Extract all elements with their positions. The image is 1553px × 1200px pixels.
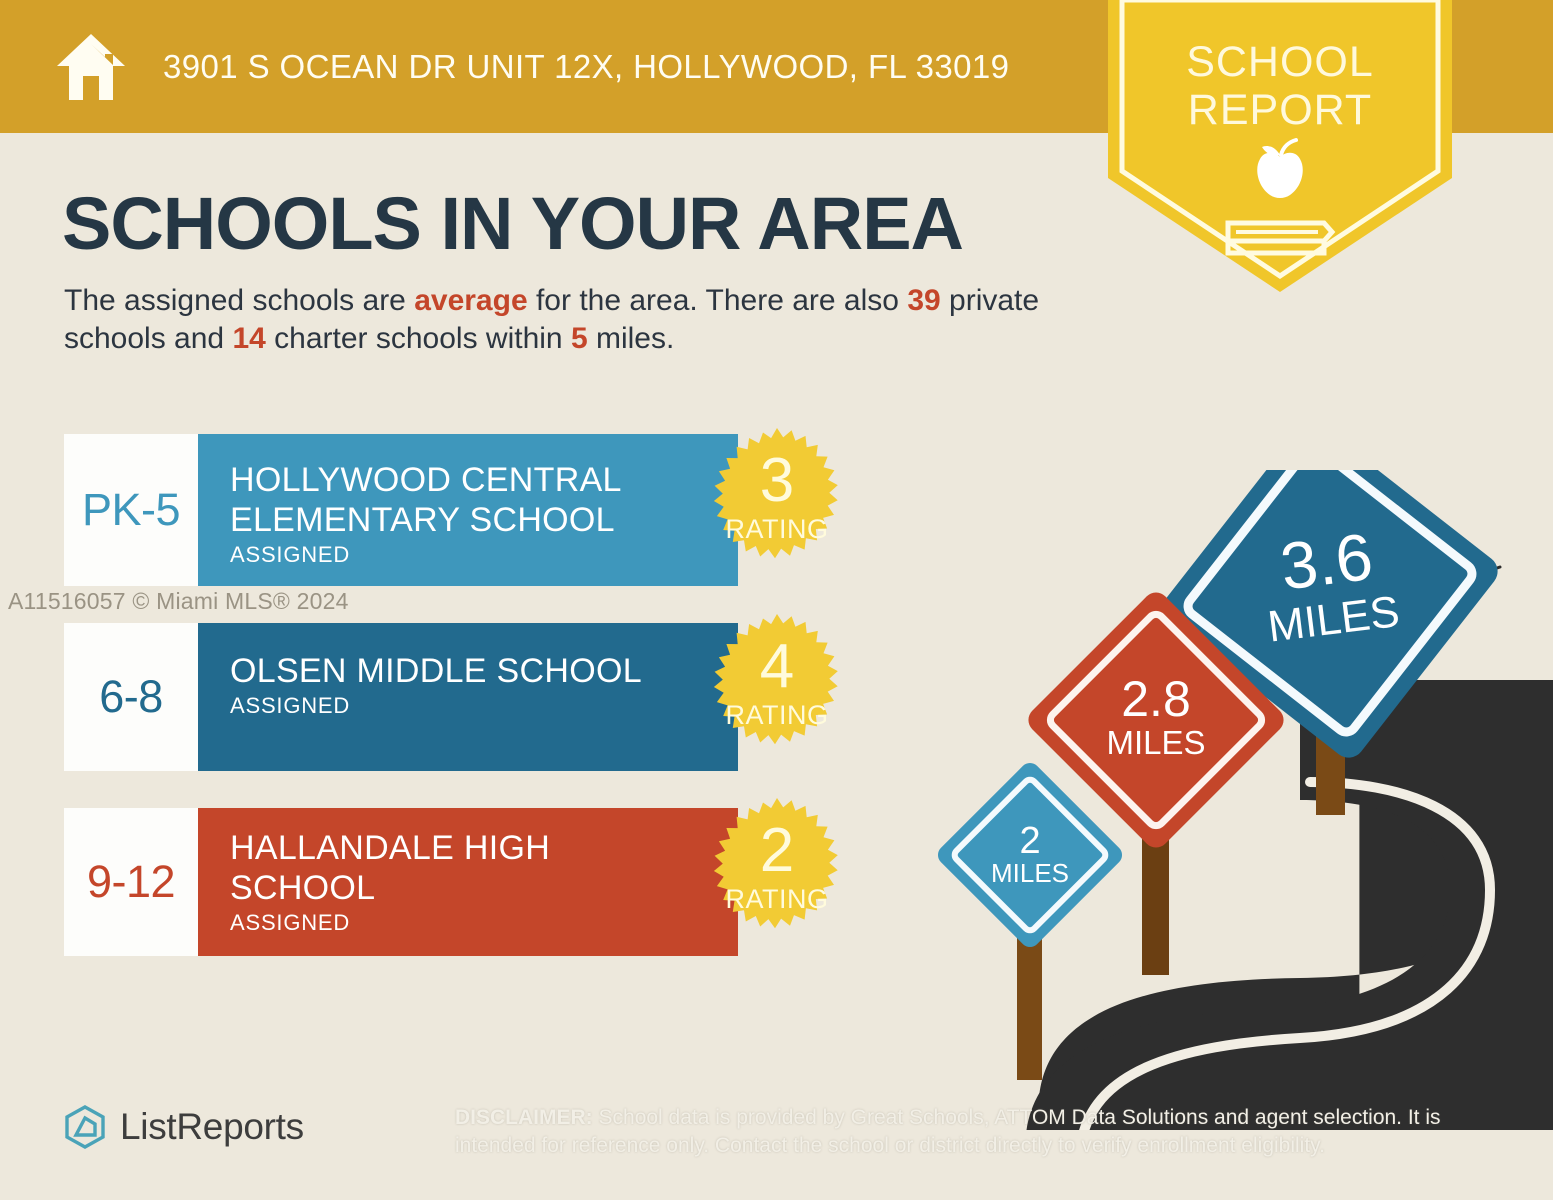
school-rating-badge: 4 RATING	[694, 614, 860, 780]
school-report-infographic: 3901 S OCEAN DR UNIT 12X, HOLLYWOOD, FL …	[0, 0, 1553, 1200]
grade-box: PK-5	[64, 434, 198, 586]
grade-range-label: PK-5	[82, 484, 180, 536]
grade-box: 9-12	[64, 808, 198, 956]
rating-label: RATING	[694, 514, 860, 545]
subtitle-highlight-private-count: 39	[907, 284, 940, 317]
school-name: HALLANDALE HIGH SCHOOL	[230, 828, 610, 908]
rating-value: 4	[694, 636, 860, 698]
subtitle-part-5: miles.	[588, 322, 675, 355]
subtitle-highlight-average: average	[414, 284, 527, 317]
school-rating-badge: 2 RATING	[694, 798, 860, 964]
sign-distance-value: 2.8	[1121, 671, 1191, 727]
school-rating-badge: 3 RATING	[694, 428, 860, 594]
school-name: HOLLYWOOD CENTRAL ELEMENTARY SCHOOL	[230, 460, 680, 540]
listreports-logo-text: ListReports	[120, 1106, 304, 1148]
home-icon	[55, 32, 127, 102]
school-bar[interactable]: HOLLYWOOD CENTRAL ELEMENTARY SCHOOL ASSI…	[198, 434, 738, 586]
school-status: ASSIGNED	[230, 692, 738, 720]
subtitle-highlight-radius: 5	[571, 322, 588, 355]
school-name: OLSEN MIDDLE SCHOOL	[230, 651, 700, 691]
grade-range-label: 6-8	[99, 671, 163, 723]
subtitle-part-2: for the area. There are also	[528, 284, 908, 317]
school-status: ASSIGNED	[230, 541, 738, 569]
listreports-house-icon	[62, 1104, 108, 1150]
subtitle-part-1: The assigned schools are	[64, 284, 414, 317]
grade-box: 6-8	[64, 623, 198, 771]
road-scene: 3.6 MILES 2.8 MILES 2 MILES	[930, 470, 1553, 1130]
subtitle-part-4: charter schools within	[266, 322, 571, 355]
page-subtitle: The assigned schools are average for the…	[64, 282, 1109, 358]
rating-value: 2	[694, 820, 860, 882]
page-title: SCHOOLS IN YOUR AREA	[62, 184, 963, 264]
school-report-badge: SCHOOL REPORT	[1108, 0, 1452, 292]
mls-watermark: A11516057 © Miami MLS® 2024	[8, 588, 349, 615]
property-address: 3901 S OCEAN DR UNIT 12X, HOLLYWOOD, FL …	[163, 48, 1009, 86]
sign-unit-label: MILES	[991, 858, 1069, 888]
rating-value: 3	[694, 450, 860, 512]
rating-label: RATING	[694, 700, 860, 731]
school-status: ASSIGNED	[230, 909, 738, 937]
disclaimer-text: DISCLAIMER: School data is provided by G…	[455, 1104, 1460, 1160]
subtitle-highlight-charter-count: 14	[232, 322, 265, 355]
grade-range-label: 9-12	[87, 856, 175, 908]
school-bar[interactable]: OLSEN MIDDLE SCHOOL ASSIGNED	[198, 623, 738, 771]
badge-shield-shape	[1108, 0, 1452, 292]
rating-label: RATING	[694, 884, 860, 915]
listreports-logo[interactable]: ListReports	[62, 1104, 304, 1150]
sign-unit-label: MILES	[1106, 724, 1205, 761]
disclaimer-body: School data is provided by Great Schools…	[455, 1106, 1441, 1157]
header-content: 3901 S OCEAN DR UNIT 12X, HOLLYWOOD, FL …	[55, 0, 1009, 133]
school-bar[interactable]: HALLANDALE HIGH SCHOOL ASSIGNED	[198, 808, 738, 956]
sign-distance-value: 2	[1019, 820, 1040, 862]
distance-signs-illustration: 3.6 MILES 2.8 MILES 2 MILES	[930, 470, 1553, 1130]
disclaimer-label: DISCLAIMER:	[455, 1106, 593, 1129]
